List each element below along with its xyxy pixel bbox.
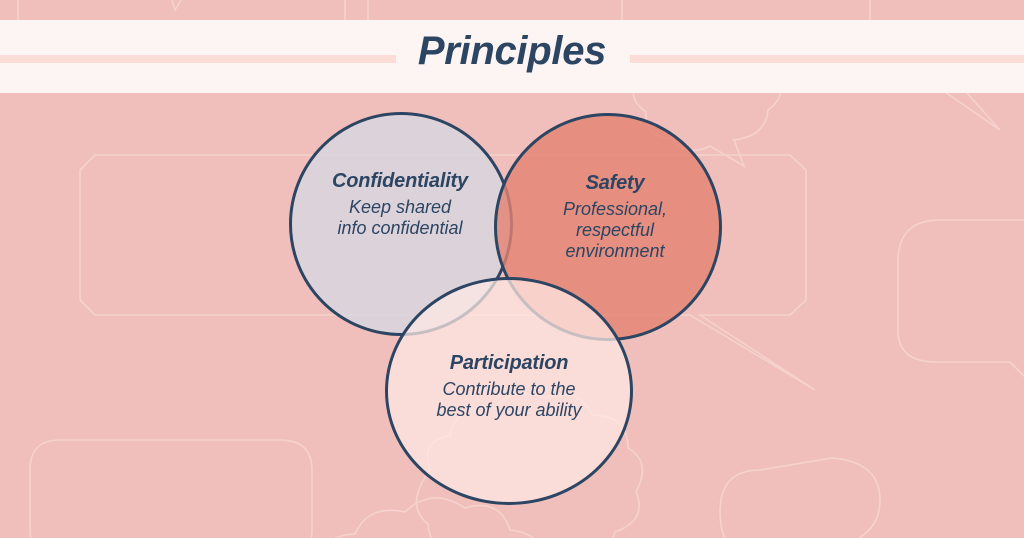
venn-title-participation: Participation xyxy=(385,352,633,375)
venn-title-safety: Safety xyxy=(508,172,722,195)
principles-slide: Principles Confidentiality Keep shared i… xyxy=(0,0,1024,538)
venn-desc-safety-line-1: Professional, xyxy=(508,199,722,220)
venn-desc-safety-line-2: respectful xyxy=(508,220,722,241)
venn-label-confidentiality: Confidentiality Keep shared info confide… xyxy=(288,170,512,239)
venn-desc-confidentiality-line-1: Keep shared xyxy=(288,197,512,218)
venn-title-confidentiality: Confidentiality xyxy=(288,170,512,193)
venn-label-participation: Participation Contribute to the best of … xyxy=(385,352,633,421)
venn-desc-participation-line-2: best of your ability xyxy=(385,400,633,421)
venn-desc-confidentiality-line-2: info confidential xyxy=(288,218,512,239)
venn-desc-participation-line-1: Contribute to the xyxy=(385,379,633,400)
page-title: Principles xyxy=(0,29,1024,73)
venn-desc-safety-line-3: environment xyxy=(508,241,722,262)
venn-label-safety: Safety Professional, respectful environm… xyxy=(508,172,722,262)
